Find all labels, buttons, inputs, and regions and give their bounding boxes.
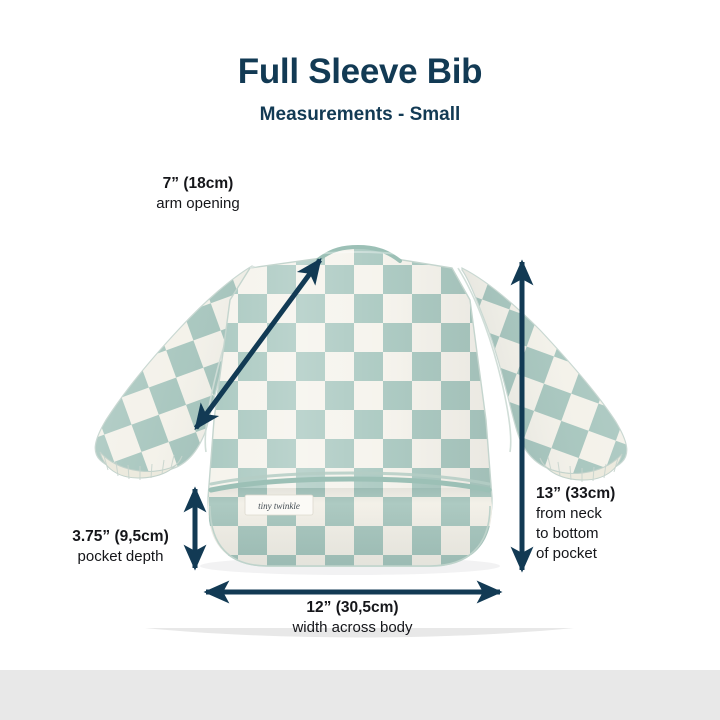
- pocket-depth-value: 3.75” (9,5cm): [48, 527, 193, 547]
- page-title: Full Sleeve Bib: [0, 52, 720, 92]
- measurement-diagram: tiny twinkle Full Sleeve Bib Measurement…: [0, 0, 720, 720]
- page-subtitle: Measurements - Small: [0, 104, 720, 126]
- pocket-depth-label: 3.75” (9,5cm) pocket depth: [48, 527, 193, 567]
- neck-to-pocket-description-line2: to bottom: [536, 524, 615, 544]
- arm-opening-value: 7” (18cm): [118, 174, 278, 194]
- width-across-body-description: width across body: [230, 618, 475, 638]
- arm-opening-arrow: [196, 260, 320, 428]
- width-across-body-label: 12” (30,5cm) width across body: [230, 598, 475, 638]
- width-across-body-value: 12” (30,5cm): [230, 598, 475, 618]
- arm-opening-description: arm opening: [118, 194, 278, 214]
- neck-to-pocket-description-line1: from neck: [536, 504, 615, 524]
- pocket-depth-description: pocket depth: [48, 547, 193, 567]
- neck-to-pocket-label: 13” (33cm) from neck to bottom of pocket: [536, 484, 615, 564]
- neck-to-pocket-description-line3: of pocket: [536, 544, 615, 564]
- arm-opening-label: 7” (18cm) arm opening: [118, 174, 278, 214]
- neck-to-pocket-value: 13” (33cm): [536, 484, 615, 504]
